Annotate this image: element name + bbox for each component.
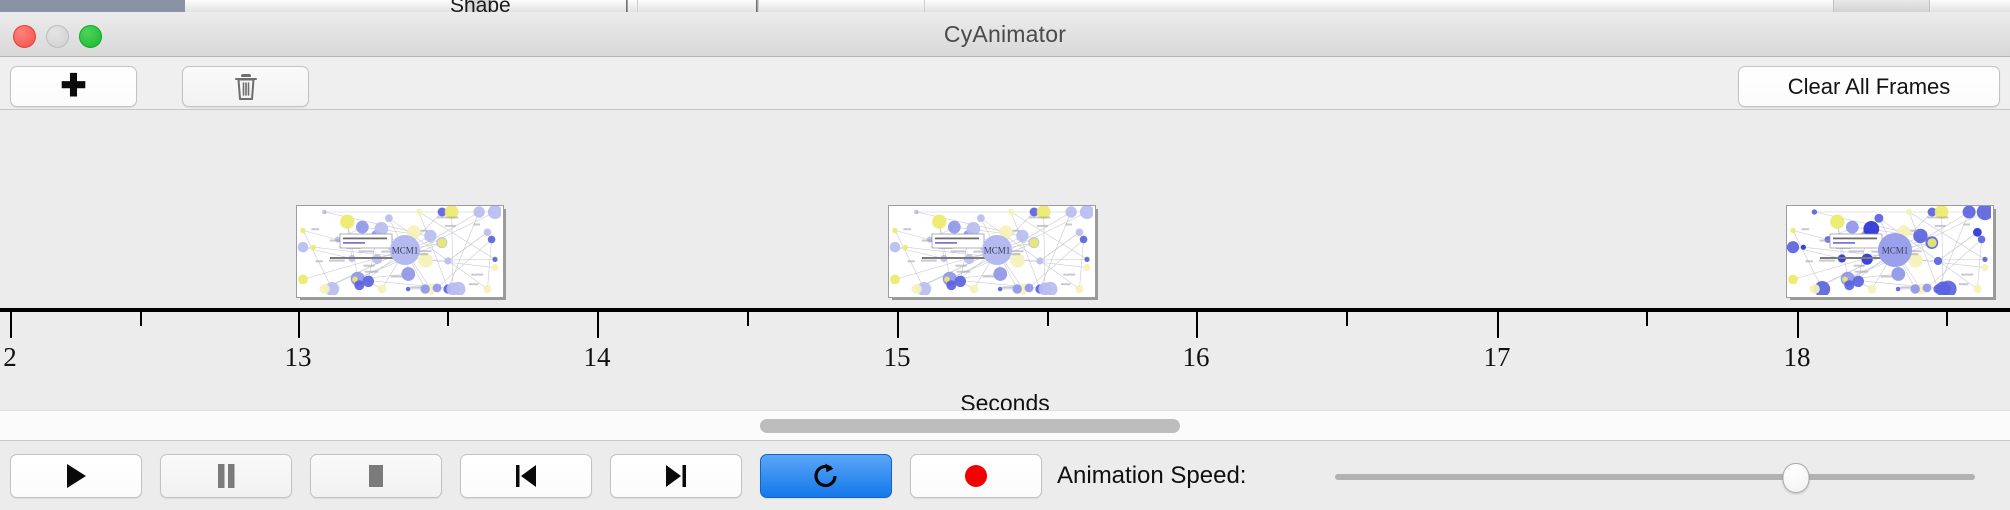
pause-button[interactable] bbox=[160, 454, 292, 498]
background-segment bbox=[185, 0, 466, 12]
axis-tick-label: 16 bbox=[1183, 342, 1210, 373]
animation-speed-slider[interactable] bbox=[1335, 474, 1975, 480]
timeline-axis: 2131415161718 Seconds bbox=[0, 110, 2010, 410]
record-button[interactable] bbox=[910, 454, 1042, 498]
window-title: CyAnimator bbox=[0, 12, 2010, 57]
axis-tick-minor bbox=[1646, 312, 1648, 326]
background-window-strip: | | Shape bbox=[0, 0, 2010, 12]
axis-tick-minor bbox=[1346, 312, 1348, 326]
stop-icon bbox=[363, 462, 389, 490]
playback-control-bar: Animation Speed: bbox=[0, 440, 2010, 510]
pause-icon bbox=[213, 462, 239, 490]
plus-icon: ✚ bbox=[61, 70, 87, 101]
cyanimator-window: | | Shape CyAnimator ✚ Clea bbox=[0, 0, 2010, 510]
axis-tick-minor bbox=[140, 312, 142, 326]
background-segment bbox=[492, 0, 638, 12]
add-frame-button[interactable]: ✚ bbox=[10, 66, 137, 107]
axis-tick-major bbox=[298, 312, 300, 338]
timeline-panel[interactable]: MCM1MCM1MCM1 2131415161718 Seconds bbox=[0, 110, 2010, 410]
toolbar: ✚ Clear All Frames bbox=[0, 57, 2010, 110]
background-tab-active bbox=[0, 0, 185, 12]
title-bar: CyAnimator bbox=[0, 12, 2010, 57]
play-button[interactable] bbox=[10, 454, 142, 498]
axis-tick-minor bbox=[1047, 312, 1049, 326]
axis-tick-major bbox=[897, 312, 899, 338]
scrollbar-thumb[interactable] bbox=[760, 419, 1180, 433]
background-segment bbox=[638, 0, 759, 12]
axis-tick-major bbox=[1797, 312, 1799, 338]
stop-button[interactable] bbox=[310, 454, 442, 498]
skip-back-button[interactable] bbox=[460, 454, 592, 498]
axis-tick-major bbox=[10, 312, 12, 338]
animation-speed-label: Animation Speed: bbox=[1057, 454, 1246, 498]
axis-tick-label: 13 bbox=[285, 342, 312, 373]
axis-tick-label: 18 bbox=[1784, 342, 1811, 373]
axis-tick-label: 2 bbox=[3, 342, 17, 373]
axis-tick-label: 15 bbox=[884, 342, 911, 373]
axis-tick-major bbox=[1196, 312, 1198, 338]
axis-title: Seconds bbox=[0, 390, 2010, 410]
trash-icon bbox=[233, 72, 259, 102]
skip-back-icon bbox=[512, 462, 540, 490]
record-icon bbox=[962, 462, 990, 490]
axis-tick-minor bbox=[747, 312, 749, 326]
loop-button[interactable] bbox=[760, 454, 892, 498]
delete-frame-button[interactable] bbox=[182, 66, 309, 107]
loop-icon bbox=[811, 461, 841, 491]
background-glyph: | bbox=[625, 0, 629, 12]
skip-forward-icon bbox=[662, 462, 690, 490]
axis-tick-major bbox=[597, 312, 599, 338]
clear-all-frames-button[interactable]: Clear All Frames bbox=[1738, 66, 2000, 107]
axis-tick-label: 14 bbox=[584, 342, 611, 373]
axis-tick-minor bbox=[1946, 312, 1948, 326]
play-icon bbox=[63, 462, 89, 490]
timeline-scrollbar[interactable] bbox=[0, 410, 2010, 440]
background-glyph: | bbox=[755, 0, 759, 12]
axis-tick-minor bbox=[447, 312, 449, 326]
axis-tick-major bbox=[1497, 312, 1499, 338]
background-segment bbox=[759, 0, 925, 12]
slider-thumb[interactable] bbox=[1782, 463, 1809, 493]
background-shape-label: Shape bbox=[450, 0, 511, 12]
clear-all-frames-label: Clear All Frames bbox=[1788, 74, 1951, 100]
axis-line bbox=[0, 308, 2010, 312]
background-right-control bbox=[1833, 0, 1930, 12]
skip-forward-button[interactable] bbox=[610, 454, 742, 498]
axis-tick-label: 17 bbox=[1484, 342, 1511, 373]
